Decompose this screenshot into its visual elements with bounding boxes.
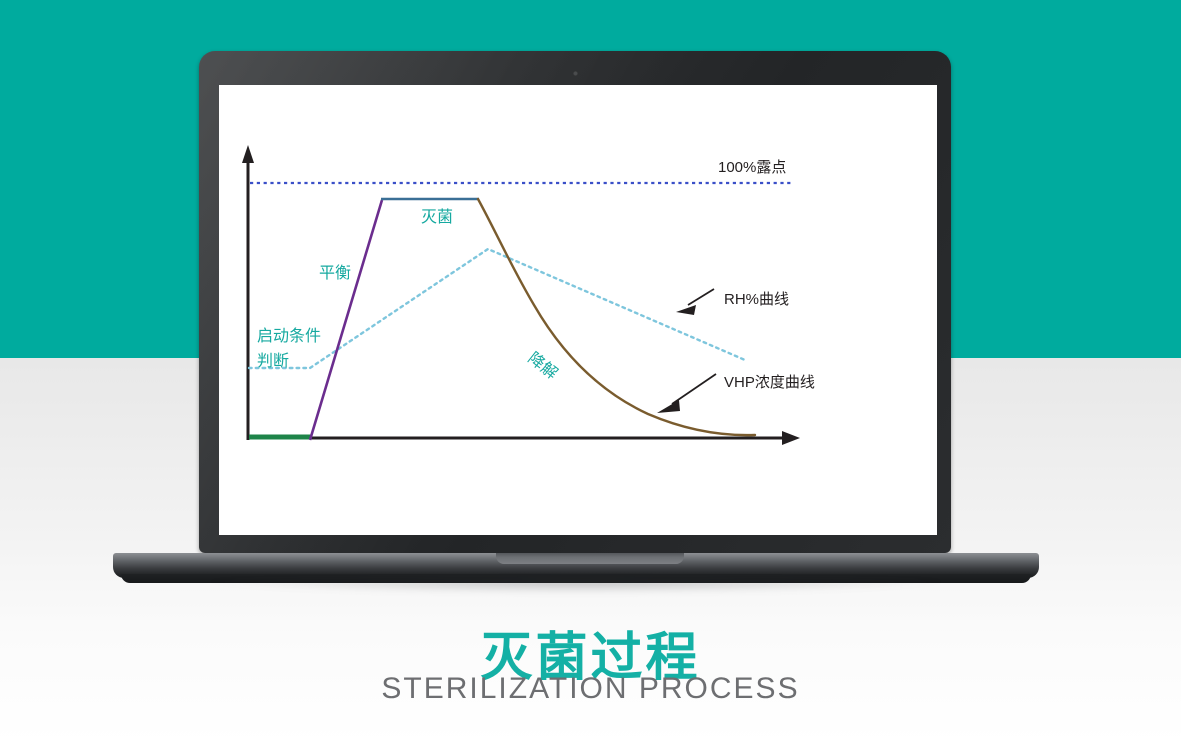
laptop-base-notch: [496, 553, 684, 564]
sterilize-phase-label: 灭菌: [421, 208, 453, 226]
laptop-shadow: [96, 580, 1056, 616]
laptop-mockup: 100%露点 RH%曲线 VHP浓度曲线 灭菌 平衡 启动条件 判断 降解 预热…: [0, 0, 1181, 620]
equilibrium-phase-label: 平衡: [319, 264, 351, 282]
webcam-icon: [573, 71, 578, 76]
degrade-phase-label: 降解: [525, 349, 561, 383]
sterilization-process-chart: 100%露点 RH%曲线 VHP浓度曲线 灭菌 平衡 启动条件 判断 降解: [219, 85, 937, 535]
vhp-curve-label: VHP浓度曲线: [724, 374, 815, 391]
dew-point-label: 100%露点: [718, 159, 786, 176]
start-condition-label-line1: 启动条件: [257, 327, 321, 345]
y-axis: [242, 145, 254, 440]
vhp-annotation-arrow: [657, 374, 716, 413]
start-condition-label-line2: 判断: [257, 352, 289, 370]
vhp-concentration-curve: [478, 199, 755, 435]
page-subtitle-english: STERILIZATION PROCESS: [0, 672, 1181, 706]
rh-curve-label: RH%曲线: [724, 291, 789, 308]
rh-annotation-arrow: [676, 289, 714, 315]
laptop-screen: 100%露点 RH%曲线 VHP浓度曲线 灭菌 平衡 启动条件 判断 降解 预热…: [219, 85, 937, 535]
equilibrium-ramp-line: [310, 200, 382, 440]
